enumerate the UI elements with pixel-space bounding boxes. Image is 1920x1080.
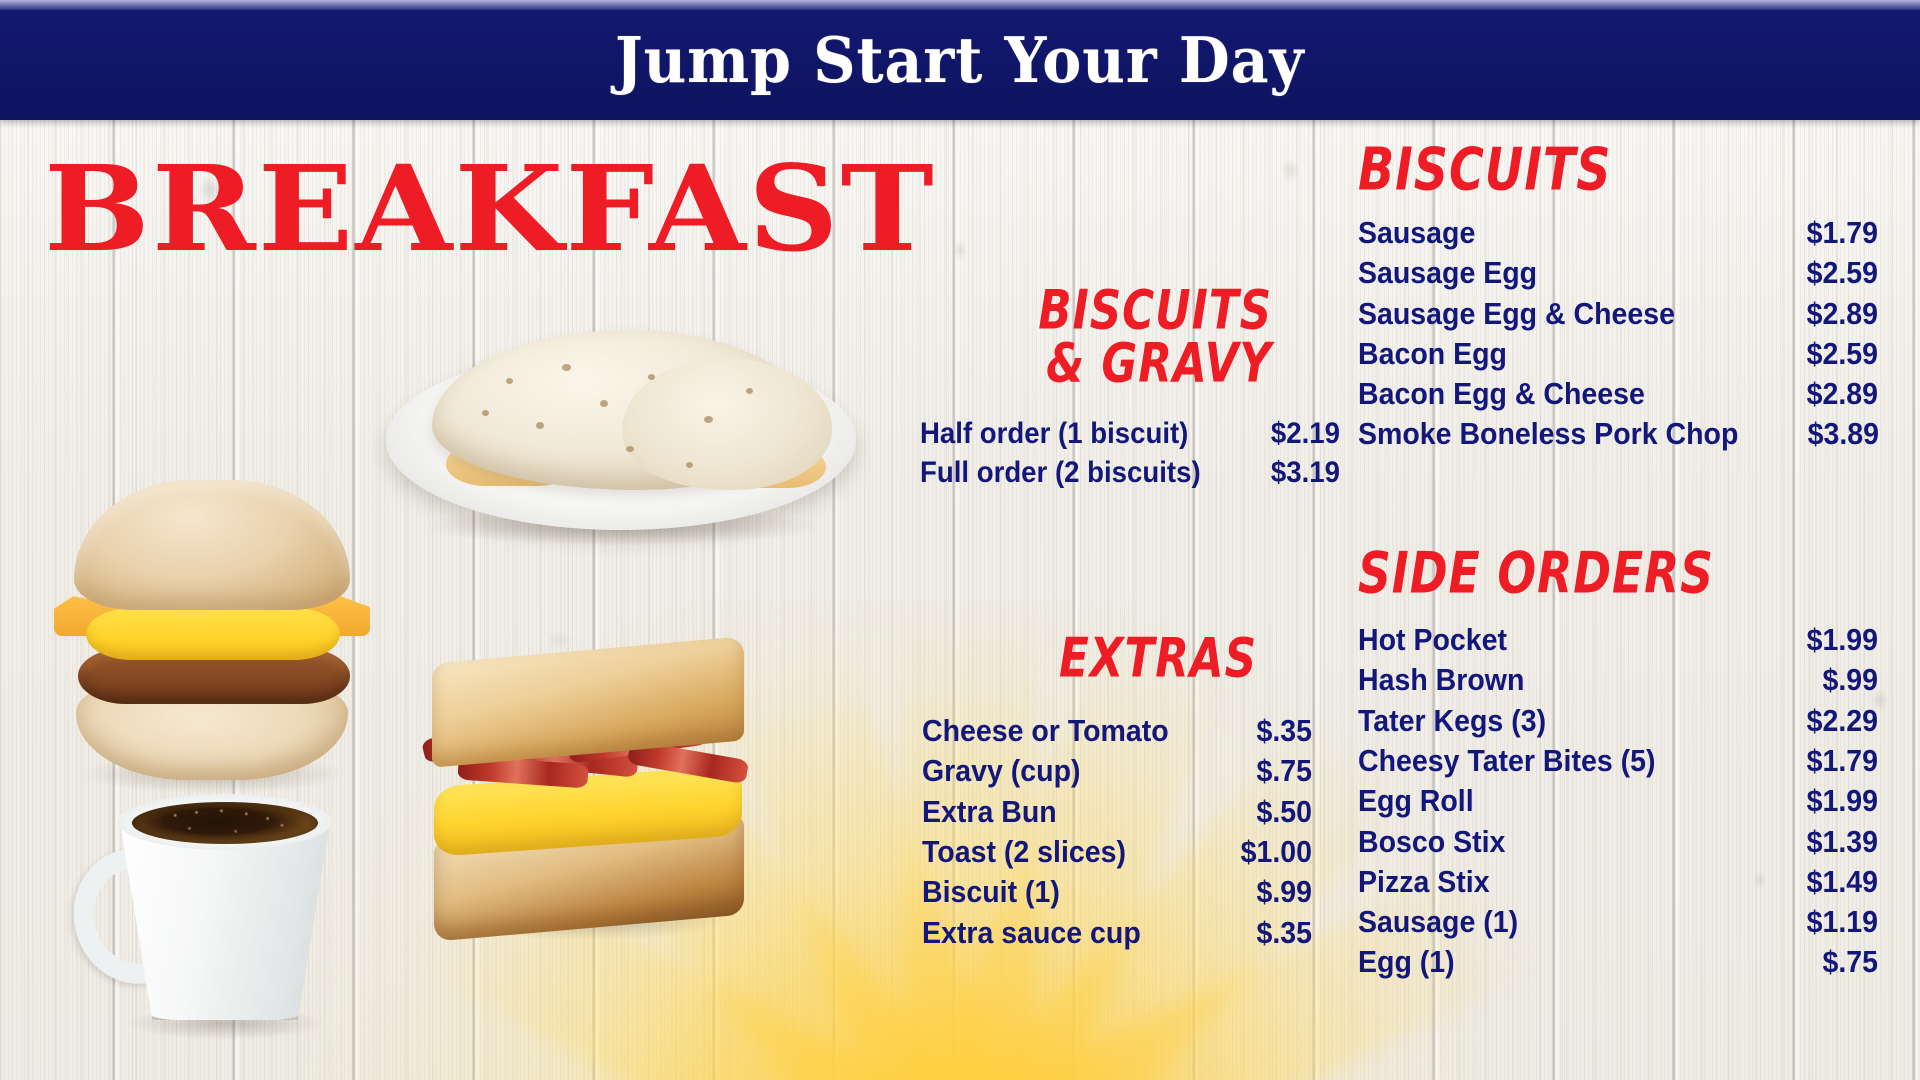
item-name: Sausage Egg bbox=[1358, 253, 1537, 293]
section-biscuits: BISCUITS Sausage $1.79 Sausage Egg $2.59… bbox=[1358, 150, 1878, 455]
item-price: $1.79 bbox=[1786, 741, 1878, 781]
menu-list-biscuits: Sausage $1.79 Sausage Egg $2.59 Sausage … bbox=[1358, 213, 1878, 455]
section-heading-extras: EXTRAS bbox=[939, 632, 1257, 685]
item-name: Sausage bbox=[1358, 213, 1475, 253]
item-name: Biscuit (1) bbox=[922, 872, 1060, 912]
item-price: $.35 bbox=[1233, 913, 1312, 953]
item-name: Half order (1 biscuit) bbox=[920, 414, 1188, 453]
item-name: Bacon Egg & Cheese bbox=[1358, 374, 1645, 414]
item-price: $.75 bbox=[1786, 942, 1878, 982]
item-price: $2.59 bbox=[1786, 253, 1878, 293]
heading-line-1: BISCUITS bbox=[938, 284, 1272, 337]
menu-row: Egg (1) $.75 bbox=[1358, 942, 1878, 982]
menu-list-biscuits-and-gravy: Half order (1 biscuit) $2.19 Full order … bbox=[920, 414, 1340, 492]
menu-row: Pizza Stix $1.49 bbox=[1358, 862, 1878, 902]
item-name: Egg Roll bbox=[1358, 781, 1474, 821]
item-name: Pizza Stix bbox=[1358, 862, 1490, 902]
menu-row: Cheese or Tomato $.35 bbox=[922, 711, 1312, 751]
menu-row: Sausage $1.79 bbox=[1358, 213, 1878, 253]
menu-row: Hash Brown $.99 bbox=[1358, 660, 1878, 700]
item-name: Bosco Stix bbox=[1358, 822, 1505, 862]
section-biscuits-and-gravy: BISCUITS & GRAVY Half order (1 biscuit) … bbox=[920, 300, 1340, 492]
item-name: Cheese or Tomato bbox=[922, 711, 1169, 751]
menu-row: Cheesy Tater Bites (5) $1.79 bbox=[1358, 741, 1878, 781]
menu-row: Gravy (cup) $.75 bbox=[922, 751, 1312, 791]
section-heading-biscuits-and-gravy: BISCUITS & GRAVY bbox=[938, 284, 1272, 390]
item-price: $.75 bbox=[1233, 751, 1312, 791]
item-price: $.50 bbox=[1233, 792, 1312, 832]
menu-row: Bosco Stix $1.39 bbox=[1358, 822, 1878, 862]
item-name: Sausage Egg & Cheese bbox=[1358, 294, 1675, 334]
menu-row: Full order (2 biscuits) $3.19 bbox=[920, 453, 1340, 492]
item-name: Egg (1) bbox=[1358, 942, 1455, 982]
item-price: $1.00 bbox=[1233, 832, 1312, 872]
menu-row: Smoke Boneless Pork Chop $3.89 bbox=[1358, 414, 1878, 454]
item-name: Extra sauce cup bbox=[922, 913, 1141, 953]
biscuits-and-gravy-plate-photo bbox=[386, 330, 856, 540]
item-price: $1.79 bbox=[1786, 213, 1878, 253]
item-price: $1.99 bbox=[1786, 620, 1878, 660]
item-price: $.99 bbox=[1233, 872, 1312, 912]
item-price: $2.29 bbox=[1786, 701, 1878, 741]
item-price: $2.89 bbox=[1786, 374, 1878, 414]
item-price: $1.49 bbox=[1786, 862, 1878, 902]
menu-row: Bacon Egg & Cheese $2.89 bbox=[1358, 374, 1878, 414]
sausage-egg-cheese-biscuit-photo bbox=[52, 480, 372, 780]
menu-row: Sausage Egg & Cheese $2.89 bbox=[1358, 294, 1878, 334]
coffee-cup-photo bbox=[66, 790, 346, 1040]
menu-row: Hot Pocket $1.99 bbox=[1358, 620, 1878, 660]
item-name: Sausage (1) bbox=[1358, 902, 1518, 942]
section-heading-biscuits: BISCUITS bbox=[1358, 141, 1852, 199]
menu-row: Sausage Egg $2.59 bbox=[1358, 253, 1878, 293]
item-price: $1.99 bbox=[1786, 781, 1878, 821]
section-side-orders: SIDE ORDERS Hot Pocket $1.99 Hash Brown … bbox=[1358, 555, 1878, 983]
menu-list-extras: Cheese or Tomato $.35 Gravy (cup) $.75 E… bbox=[922, 711, 1312, 953]
item-name: Cheesy Tater Bites (5) bbox=[1358, 741, 1655, 781]
item-price: $3.19 bbox=[1255, 453, 1340, 492]
item-price: $2.89 bbox=[1786, 294, 1878, 334]
menu-row: Toast (2 slices) $1.00 bbox=[922, 832, 1312, 872]
item-name: Full order (2 biscuits) bbox=[920, 453, 1201, 492]
item-price: $.35 bbox=[1233, 711, 1312, 751]
item-name: Gravy (cup) bbox=[922, 751, 1080, 791]
item-price: $2.19 bbox=[1255, 414, 1340, 453]
menu-row: Tater Kegs (3) $2.29 bbox=[1358, 701, 1878, 741]
item-price: $.99 bbox=[1786, 660, 1878, 700]
section-heading-side-orders: SIDE ORDERS bbox=[1358, 547, 1852, 602]
menu-row: Bacon Egg $2.59 bbox=[1358, 334, 1878, 374]
section-extras: EXTRAS Cheese or Tomato $.35 Gravy (cup)… bbox=[922, 640, 1312, 953]
header-banner: Jump Start Your Day bbox=[0, 0, 1920, 120]
menu-row: Extra Bun $.50 bbox=[922, 792, 1312, 832]
item-name: Toast (2 slices) bbox=[922, 832, 1126, 872]
item-price: $1.19 bbox=[1786, 902, 1878, 942]
item-name: Smoke Boneless Pork Chop bbox=[1358, 414, 1738, 454]
menu-row: Egg Roll $1.99 bbox=[1358, 781, 1878, 821]
item-name: Hot Pocket bbox=[1358, 620, 1507, 660]
item-price: $2.59 bbox=[1786, 334, 1878, 374]
menu-list-side-orders: Hot Pocket $1.99 Hash Brown $.99 Tater K… bbox=[1358, 620, 1878, 983]
bacon-egg-cheese-toast-sandwich-photo bbox=[418, 650, 758, 940]
item-name: Tater Kegs (3) bbox=[1358, 701, 1546, 741]
item-name: Bacon Egg bbox=[1358, 334, 1507, 374]
menu-row: Biscuit (1) $.99 bbox=[922, 872, 1312, 912]
menu-row: Extra sauce cup $.35 bbox=[922, 913, 1312, 953]
menu-row: Half order (1 biscuit) $2.19 bbox=[920, 414, 1340, 453]
item-name: Hash Brown bbox=[1358, 660, 1524, 700]
item-price: $3.89 bbox=[1787, 414, 1879, 454]
item-name: Extra Bun bbox=[922, 792, 1057, 832]
heading-line-2: & GRAVY bbox=[938, 337, 1272, 390]
menu-row: Sausage (1) $1.19 bbox=[1358, 902, 1878, 942]
page-title: BREAKFAST bbox=[44, 150, 936, 268]
item-price: $1.39 bbox=[1786, 822, 1878, 862]
banner-title: Jump Start Your Day bbox=[615, 29, 1305, 92]
breakfast-menu-board: Jump Start Your Day BREAKFAST bbox=[0, 0, 1920, 1080]
